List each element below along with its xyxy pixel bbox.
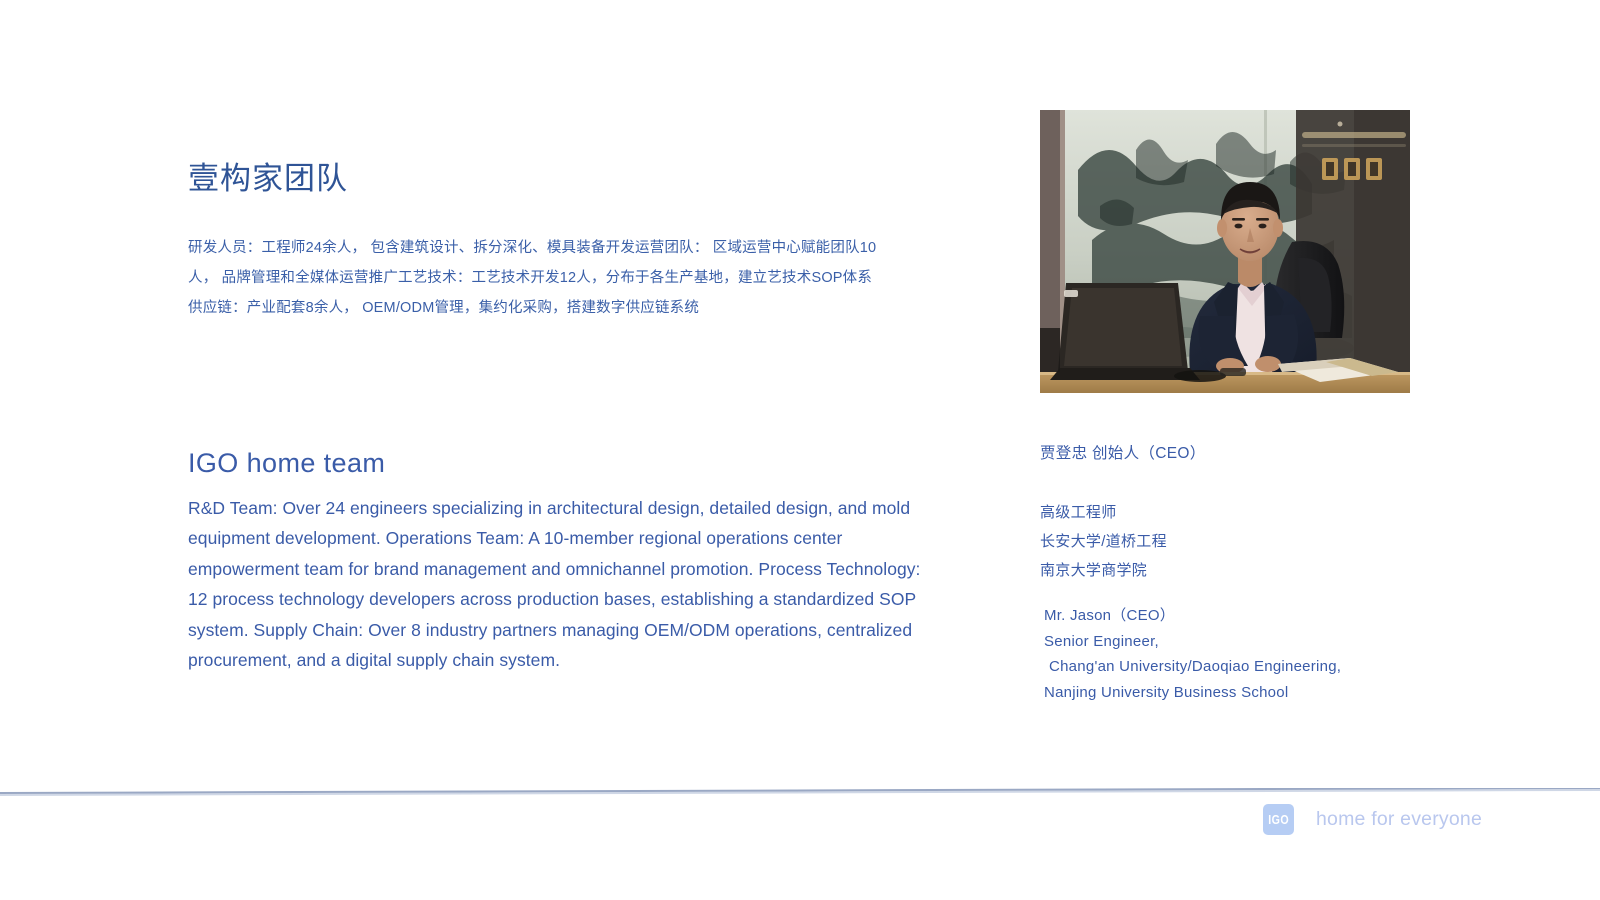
igo-logo-icon: IGO [1263,804,1294,835]
credential-line-cn-3: 南京大学商学院 [1040,556,1440,585]
credential-line-en-2: Senior Engineer, [1040,629,1440,655]
credential-line-en-4: Nanjing University Business School [1040,680,1440,706]
left-content-column: 壹构家团队 研发人员：工程师24余人， 包含建筑设计、拆分深化、模具装备开发运营… [188,160,948,323]
english-content-block: IGO home team R&D Team: Over 24 engineer… [188,447,933,676]
credential-line-cn-2: 长安大学/道桥工程 [1040,527,1440,556]
credential-line-en-3: Chang'an University/Daoqiao Engineering, [1040,654,1440,680]
igo-logo-label: IGO [1268,812,1289,827]
founder-caption: 贾登忠 创始人（CEO） 高级工程师 长安大学/道桥工程 南京大学商学院 Mr.… [1040,444,1440,705]
footer-divider [0,788,1600,797]
footer-tagline: home for everyone [1316,808,1482,831]
footer-brand: IGO home for everyone [1263,804,1482,835]
founder-photo-image [1040,110,1410,393]
page-title-chinese: 壹构家团队 [188,160,948,197]
credential-line-cn-1: 高级工程师 [1040,498,1440,527]
founder-credentials-chinese: 高级工程师 长安大学/道桥工程 南京大学商学院 [1040,498,1440,585]
founder-photo [1040,110,1410,393]
founder-name-chinese: 贾登忠 创始人（CEO） [1040,444,1440,464]
founder-credentials-english: Mr. Jason（CEO） Senior Engineer, Chang'an… [1040,603,1440,705]
body-paragraph-chinese: 研发人员：工程师24余人， 包含建筑设计、拆分深化、模具装备开发运营团队： 区域… [188,233,878,323]
page-title-english: IGO home team [188,447,933,481]
body-paragraph-english: R&D Team: Over 24 engineers specializing… [188,493,933,676]
credential-line-en-1: Mr. Jason（CEO） [1040,603,1440,629]
